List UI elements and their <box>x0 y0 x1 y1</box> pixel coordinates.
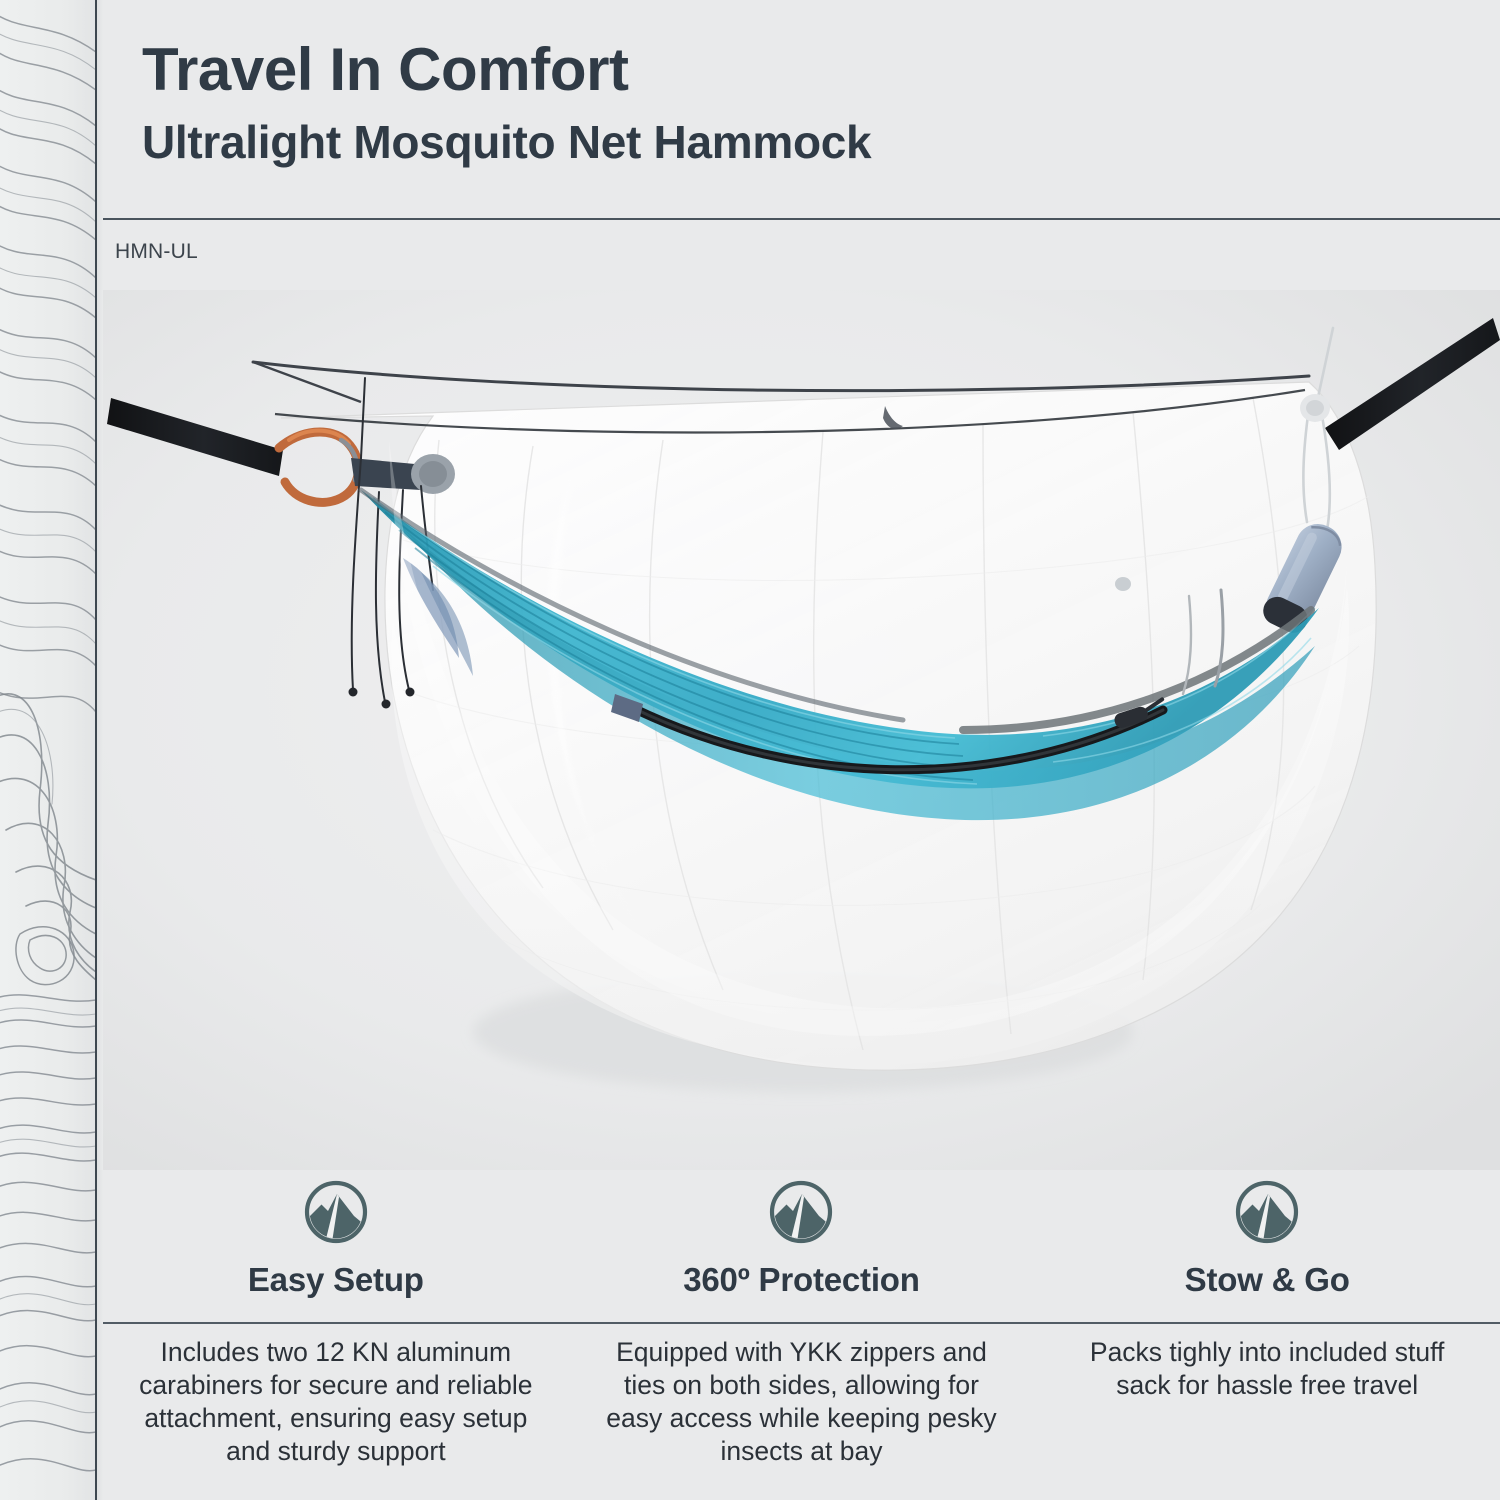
feature-row: Easy Setup 360º Protection <box>103 1170 1500 1322</box>
feature-description-stow-and-go: Packs tighly into included stuff sack fo… <box>1034 1336 1500 1402</box>
feature-title: 360º Protection <box>569 1260 1035 1300</box>
feature-description-text: Packs tighly into included stuff sack fo… <box>1062 1336 1472 1402</box>
header: Travel In Comfort Ultralight Mosquito Ne… <box>103 0 1500 218</box>
feature-description-text: Equipped with YKK zippers and ties on bo… <box>593 1336 1011 1468</box>
product-infographic: Travel In Comfort Ultralight Mosquito Ne… <box>0 0 1500 1500</box>
feature-title: Easy Setup <box>103 1260 569 1300</box>
header-divider <box>103 218 1500 220</box>
feature-title: Stow & Go <box>1034 1260 1500 1300</box>
sku-label: HMN-UL <box>115 239 198 265</box>
page-title: Travel In Comfort <box>142 38 629 102</box>
feature-description-text: Includes two 12 KN aluminum carabiners f… <box>133 1336 539 1468</box>
feature-column-stow-and-go: Stow & Go <box>1034 1170 1500 1322</box>
feature-column-easy-setup: Easy Setup <box>103 1170 569 1322</box>
feature-description-360-protection: Equipped with YKK zippers and ties on bo… <box>569 1336 1035 1468</box>
topographic-pattern-rail <box>0 0 96 1500</box>
features-divider <box>103 1322 1500 1324</box>
mountain-circle-icon <box>304 1180 368 1244</box>
content-column: Travel In Comfort Ultralight Mosquito Ne… <box>103 0 1500 1500</box>
page-subtitle: Ultralight Mosquito Net Hammock <box>142 117 871 167</box>
mountain-circle-icon <box>1235 1180 1299 1244</box>
product-photo <box>103 290 1500 1170</box>
mountain-circle-icon <box>769 1180 833 1244</box>
feature-column-360-protection: 360º Protection <box>569 1170 1035 1322</box>
feature-description-row: Includes two 12 KN aluminum carabiners f… <box>103 1336 1500 1500</box>
feature-description-easy-setup: Includes two 12 KN aluminum carabiners f… <box>103 1336 569 1468</box>
